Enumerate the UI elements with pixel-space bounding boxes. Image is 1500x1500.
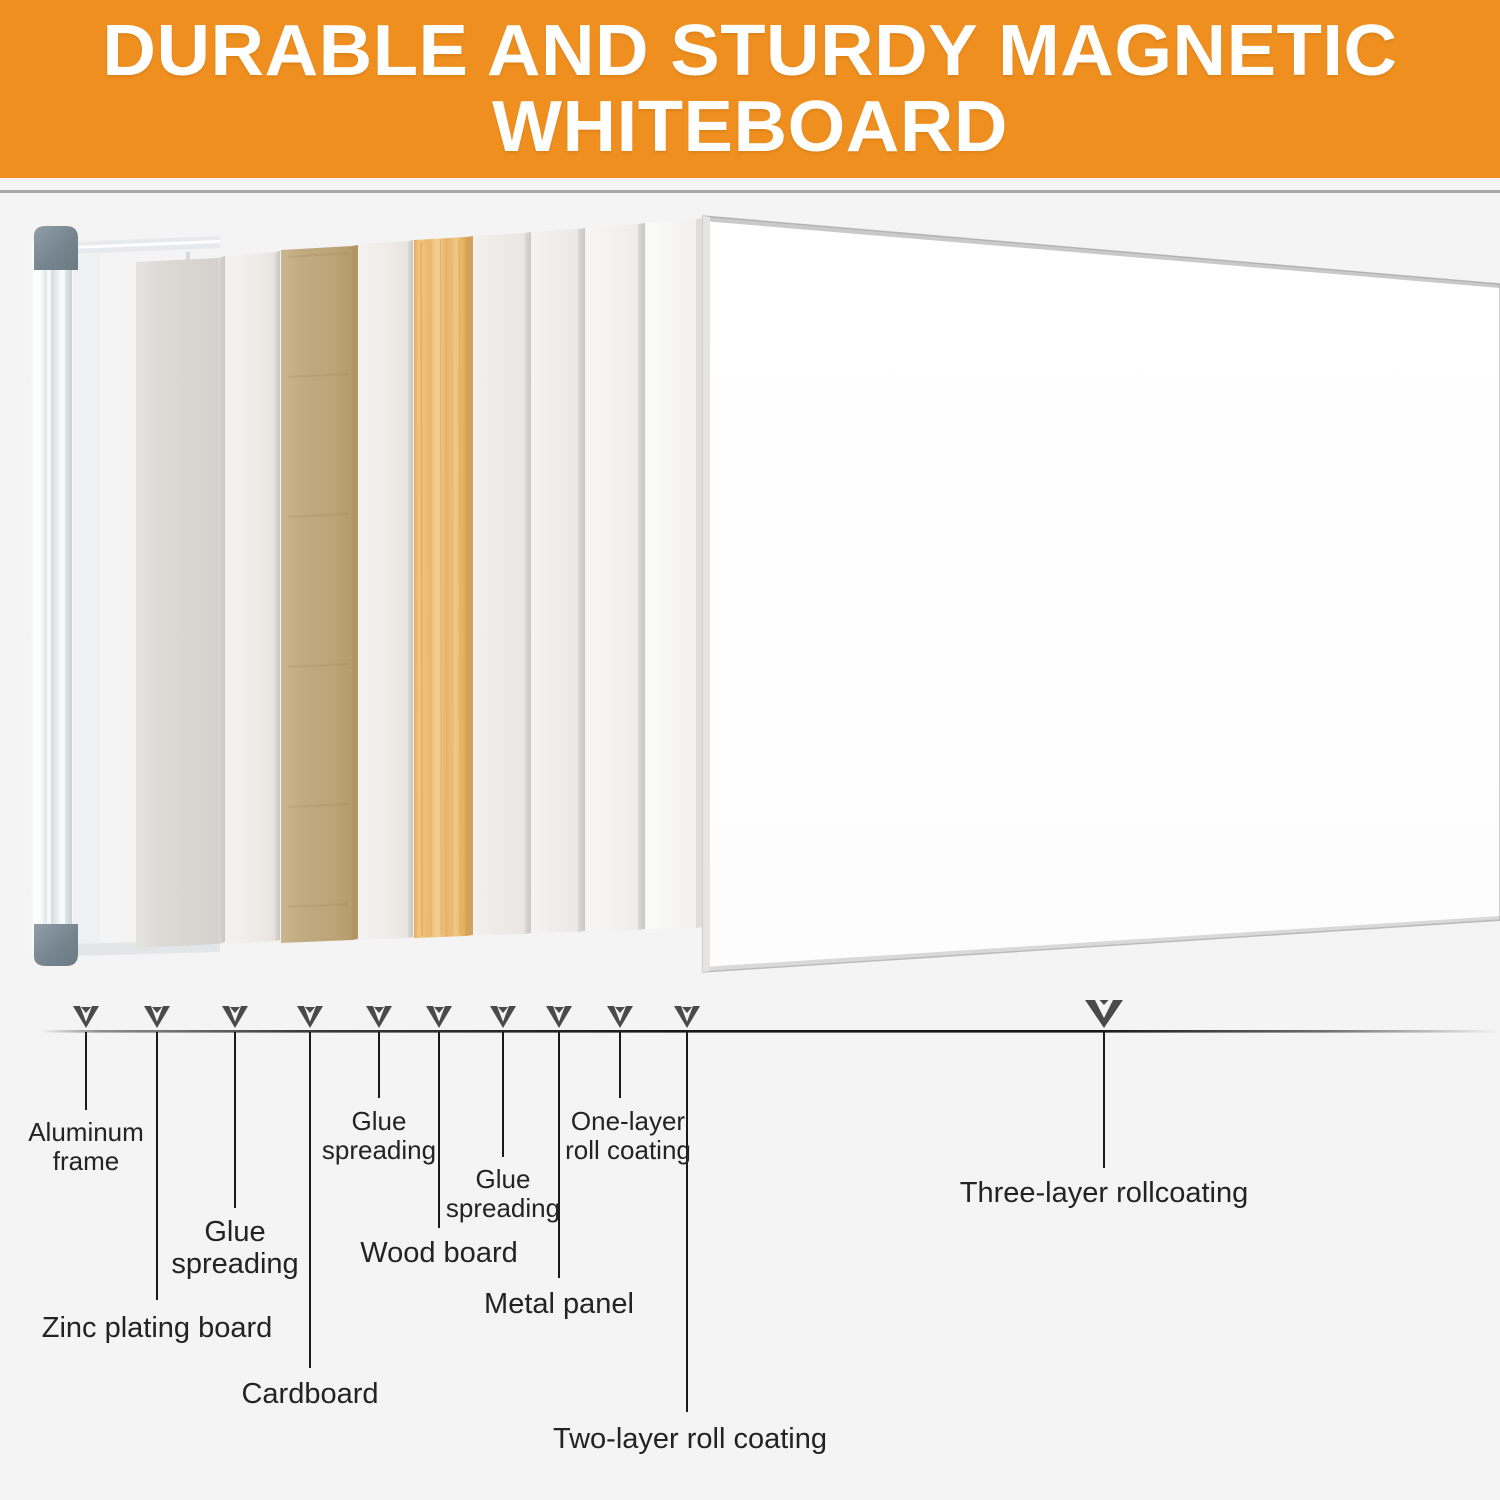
header-banner: DURABLE AND STURDY MAGNETIC WHITEBOARD <box>0 0 1500 178</box>
zinc-plate <box>136 258 218 948</box>
arrow-marker-wood-board <box>426 1006 452 1028</box>
wood-board-layer <box>414 236 473 938</box>
callout-label-glue-spreading-1: Glue spreading <box>171 1216 298 1281</box>
glue-sheet-1-edge <box>275 251 280 941</box>
chevron-inner-icon <box>305 1007 315 1013</box>
callout-label-zinc-plating-board: Zinc plating board <box>42 1312 273 1344</box>
one-layer-sheet <box>586 224 638 931</box>
arrow-marker-glue-spreading-1 <box>222 1006 248 1028</box>
glue-spreading-layer-1 <box>226 251 280 944</box>
cardboard-sheet <box>281 246 352 943</box>
one-layer-roll-coating-layer <box>586 223 645 931</box>
chevron-inner-icon <box>152 1007 162 1013</box>
callout-baseline <box>40 1030 1500 1033</box>
frame-rail-highlight <box>33 246 36 951</box>
callout-label-one-layer-roll-coating: One-layer roll coating <box>565 1107 691 1165</box>
cardboard-layer <box>281 245 358 943</box>
callout-label-glue-spreading-3: Glue spreading <box>446 1165 560 1223</box>
arrow-marker-metal-panel <box>546 1006 572 1028</box>
callout-label-aluminum-frame: Aluminum frame <box>28 1118 144 1176</box>
chevron-outer-icon <box>144 1006 170 1028</box>
chevron-inner-icon <box>615 1007 625 1013</box>
page-title: DURABLE AND STURDY MAGNETIC WHITEBOARD <box>65 13 1435 166</box>
chevron-inner-icon <box>374 1007 384 1013</box>
glue-sheet-2 <box>359 241 408 940</box>
arrow-marker-cardboard <box>297 1006 323 1028</box>
two-layer-roll-coating-layer <box>646 218 702 929</box>
zinc-plate-edge <box>218 256 225 944</box>
two-layer-sheet <box>646 219 696 929</box>
exploded-layers-svg <box>0 196 1500 1006</box>
chevron-outer-icon <box>674 1006 700 1028</box>
chevron-outer-icon <box>607 1006 633 1028</box>
glue-spreading-layer-2 <box>359 240 413 940</box>
chevron-inner-icon <box>498 1007 508 1013</box>
chevron-outer-icon <box>297 1006 323 1028</box>
callout-label-glue-spreading-2: Glue spreading <box>322 1107 436 1165</box>
glue-sheet-1 <box>226 252 275 944</box>
glue-sheet-3 <box>474 233 525 935</box>
leader-lines-svg <box>0 1000 1500 1500</box>
arrow-marker-aluminum-frame <box>73 1006 99 1028</box>
frame-rail-highlight-2 <box>47 246 51 951</box>
whiteboard-layer-illustration <box>0 196 1500 1006</box>
zinc-plating-board-layer <box>136 256 225 948</box>
arrow-marker-glue-spreading-3 <box>490 1006 516 1028</box>
chevron-outer-icon <box>222 1006 248 1028</box>
whiteboard-left-edge <box>703 216 710 972</box>
frame-rail-highlight-3 <box>61 246 65 951</box>
cardboard-edge <box>352 245 358 940</box>
callout-label-two-layer-roll-coating: Two-layer roll coating <box>553 1423 827 1455</box>
metal-panel-layer <box>532 228 585 933</box>
chevron-outer-icon <box>426 1006 452 1028</box>
glue-spreading-layer-3 <box>474 232 531 935</box>
frame-corner-cap-bottom <box>34 924 78 966</box>
one-layer-edge <box>638 223 645 930</box>
glue-sheet-2-edge <box>408 240 413 938</box>
arrow-marker-two-layer-roll-coating <box>674 1006 700 1028</box>
callout-label-three-layer-rollcoating: Three-layer rollcoating <box>960 1177 1249 1209</box>
chevron-inner-icon <box>554 1007 564 1013</box>
metal-panel-edge <box>578 228 585 932</box>
chevron-outer-icon <box>490 1006 516 1028</box>
chevron-outer-icon <box>366 1006 392 1028</box>
wood-edge <box>466 236 473 936</box>
arrow-marker-one-layer-roll-coating <box>607 1006 633 1028</box>
metal-panel-sheet <box>532 229 578 933</box>
chevron-outer-icon <box>546 1006 572 1028</box>
arrow-marker-zinc-plating-board <box>144 1006 170 1028</box>
callout-label-cardboard: Cardboard <box>241 1378 378 1410</box>
chevron-outer-icon <box>73 1006 99 1028</box>
chevron-inner-icon <box>434 1007 444 1013</box>
chevron-inner-icon <box>230 1007 240 1013</box>
arrow-marker-glue-spreading-2 <box>366 1006 392 1028</box>
frame-inner-rail <box>74 254 100 950</box>
chevron-inner-icon <box>81 1007 91 1013</box>
glue-sheet-3-edge <box>525 232 531 934</box>
frame-corner-cap-top <box>34 226 78 270</box>
header-divider <box>0 190 1500 193</box>
whiteboard-surface <box>703 216 1500 972</box>
three-layer-rollcoating-panel <box>703 216 1500 972</box>
callout-label-metal-panel: Metal panel <box>484 1288 634 1320</box>
leader-line-group <box>86 1032 1104 1412</box>
chevron-inner-icon <box>682 1007 692 1013</box>
callout-label-wood-board: Wood board <box>360 1237 517 1269</box>
two-layer-edge <box>696 218 702 928</box>
